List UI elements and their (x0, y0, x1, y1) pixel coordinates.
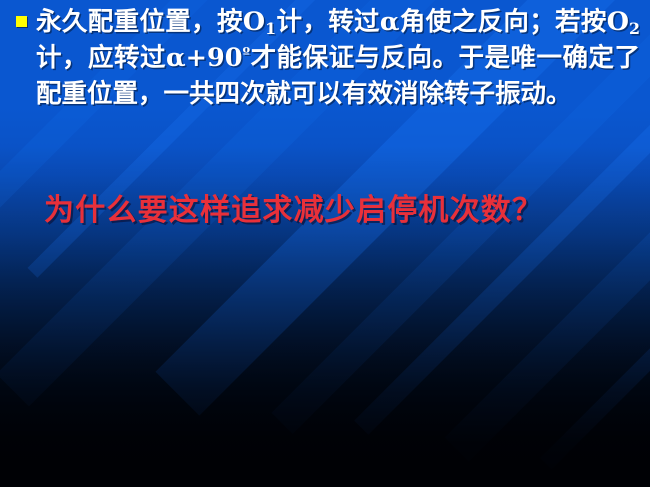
run-text-3: 计，转过α角使之反向；若按 (276, 7, 607, 37)
bullet-paragraph-text: 永久配重位置，按O1计，转过α角使之反向；若按O2计，应转过α+90º才能保证与… (36, 6, 640, 112)
slide-content: 永久配重位置，按O1计，转过α角使之反向；若按O2计，应转过α+90º才能保证与… (0, 0, 650, 487)
square-bullet-icon (16, 16, 27, 27)
run-subscript-1: 1 (265, 19, 276, 38)
run-text-5: 计，应转过α+90 (36, 43, 242, 73)
run-subscript-2: 2 (629, 19, 640, 38)
question-heading: 为什么要这样追求减少启停机次数？ (44, 192, 624, 230)
run-text-1: 永久配重位置，按 (36, 7, 243, 37)
run-text-4: O (607, 7, 629, 37)
run-text-2: O (243, 7, 265, 37)
bullet-item: 永久配重位置，按O1计，转过α角使之反向；若按O2计，应转过α+90º才能保证与… (16, 6, 640, 112)
run-superscript-degree: º (242, 44, 250, 62)
presentation-slide: 永久配重位置，按O1计，转过α角使之反向；若按O2计，应转过α+90º才能保证与… (0, 0, 650, 487)
